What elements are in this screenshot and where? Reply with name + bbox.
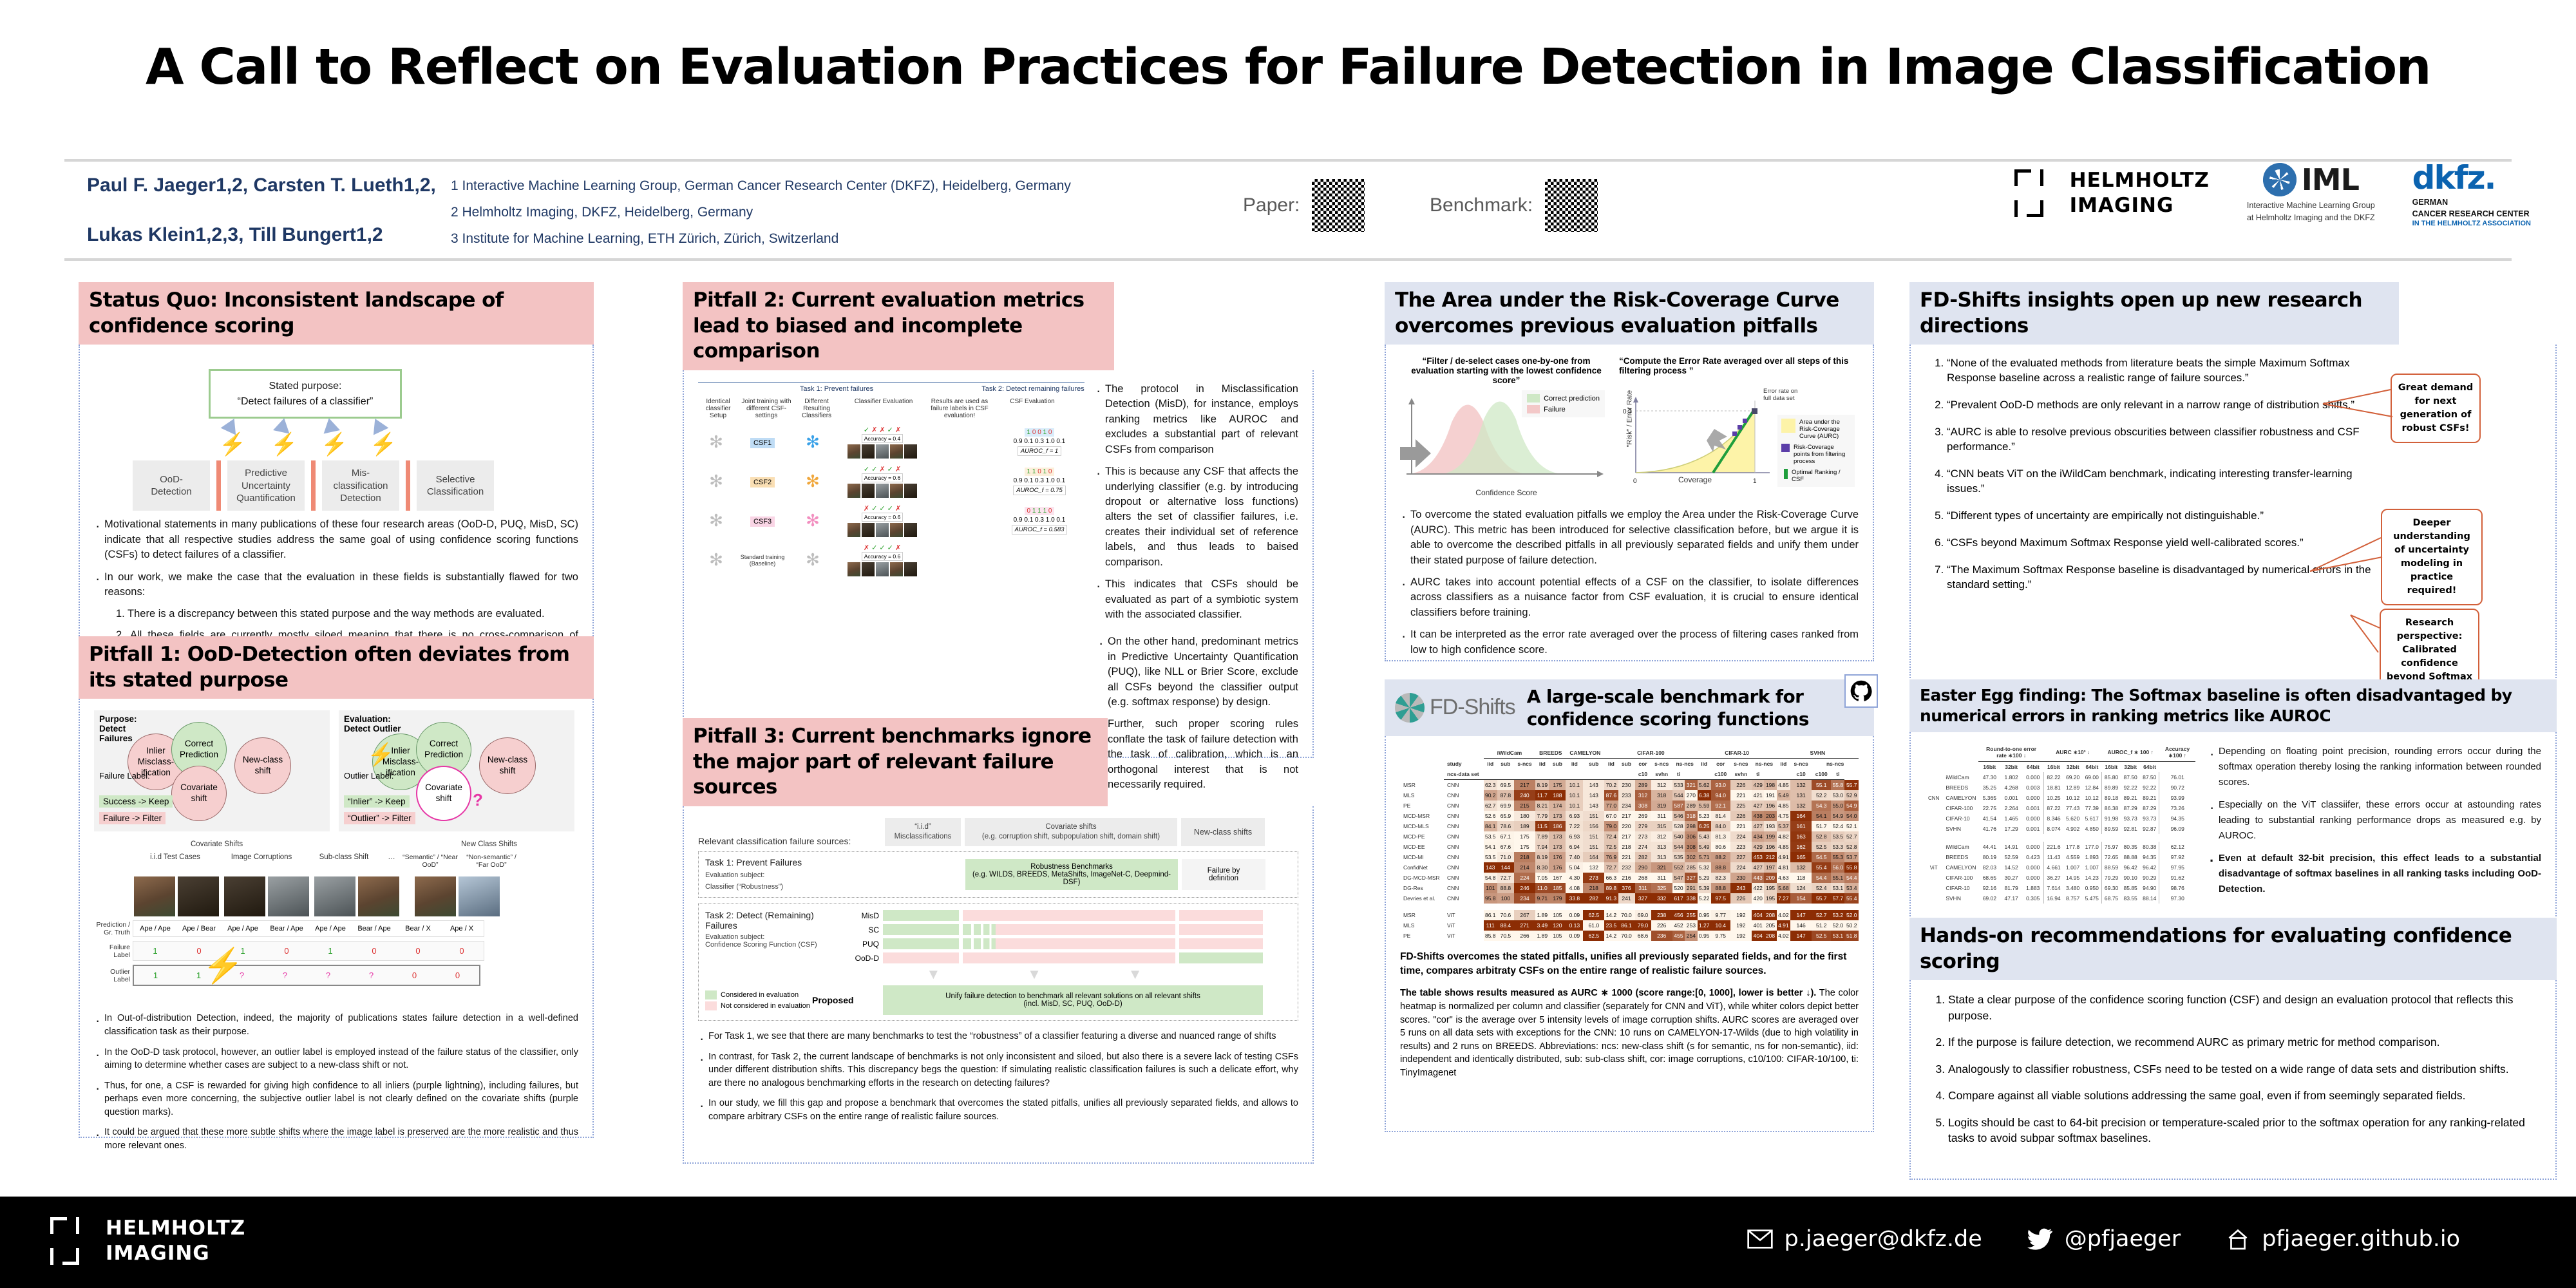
bit-header: 16bit [1978,762,2000,773]
heat-cell: 54.4 [1812,873,1831,883]
cell-outlier-label: 0 [436,966,479,985]
heat-cell: 71.0 [1497,852,1514,862]
insights-list: “None of the evaluated methods from lite… [1947,356,2385,592]
precision-cell: 47.30 [1978,772,2000,782]
precision-cell: 4.902 [2063,824,2083,834]
precision-cell: 87.50 [2121,772,2140,782]
affiliation-2: 2 Helmholtz Imaging, DKFZ, Heidelberg, G… [451,200,1159,226]
aurc-figures: Correct prediction Failure Con [1400,390,1859,497]
failure-label: 0 [1027,507,1031,515]
classifier-label [1925,883,1942,893]
heat-cell: 94.0 [1711,790,1730,800]
heat-cell: 175 [1549,780,1566,791]
correct-mark: ✓ [864,426,869,434]
heat-cell: 53.5 [1484,831,1497,842]
heat-cell: 6.94 [1566,842,1583,852]
heat-cell: 0.09 [1566,931,1583,941]
dkfz-wordmark: dkfz. [2412,159,2531,196]
heat-cell: 453 [1752,852,1764,862]
heat-cell: 164 [1790,811,1812,821]
classifier-label [1925,772,1942,782]
grid-thumbnails [134,876,500,916]
pitfall-2-bullets-right: The protocol in Misclassification Detect… [1095,382,1298,629]
footer-website[interactable]: pfjaeger.github.io [2226,1226,2460,1252]
failure-label: 1 [1043,468,1047,475]
heat-cell: 217 [1514,780,1535,791]
heat-cell: 67.1 [1497,831,1514,842]
method-name: MCD-PE [1400,831,1444,842]
annotation-error-rate-full: Error rate on full data set [1763,388,1797,402]
heat-cell: 143 [1484,862,1497,873]
callout-uncertainty-modeling: Deeper understanding of uncertainty mode… [2381,509,2483,605]
lightning-icon: ⚡ [202,949,244,983]
heat-cell: 279 [1635,821,1651,831]
heat-cell: 147 [1790,910,1812,920]
group-camelyon: CAMELYON [1566,748,1604,759]
helmholtz-wordmark: HELMHOLTZ IMAGING [2070,168,2210,218]
correct-mark: ✓ [887,505,893,513]
heat-cell: 5.23 [1698,811,1711,821]
precision-cell: 85.85 [2121,883,2140,893]
chevron-down-icon: ▼ [1027,966,1041,983]
panel-insights: FD-Shifts insights open up new research … [1909,282,2557,712]
method-name: DG-MCD-MSR [1400,873,1444,883]
venn-purpose-legend-filter: Failure -> Filter [99,812,166,824]
group-cifar100: CIFAR-100 [1604,748,1697,759]
arrow-group: ⚡ ⚡ ⚡ ⚡ [207,418,413,457]
cell-failure-label: 0 [352,942,396,960]
correct-marks: ✗ ✓ ✓ ✓ ✗ [864,504,901,513]
study-name: CNN [1444,883,1484,893]
legend-swatch-optimal [1784,469,1788,479]
table-row: MCD-PECNN53.567.11757.891736.9315172.421… [1400,831,1859,842]
legend-swatch-considered [705,990,717,999]
heat-cell: 230 [1730,873,1752,883]
failure-labels-row: 1 1 0 1 0 [1025,468,1055,476]
study-name: CNN [1444,800,1484,811]
col-header-image-corruptions: Image Corruptions [218,853,305,869]
sample-image [848,523,860,537]
logo-row: HELMHOLTZ IMAGING IML Interactive Machin… [2014,159,2531,227]
heat-cell: 111 [1484,920,1497,931]
bit-header: 32bit [2121,762,2140,773]
heat-cell: 55.4 [1812,862,1831,873]
auroc-badge: AUROC_f = 0.583 [1012,525,1068,535]
csf-chip: CSF3 [750,516,775,527]
heat-cell: 151 [1583,811,1604,821]
heat-cell: 266 [1514,931,1535,941]
panel-aurc: The Area under the Risk-Coverage Curve o… [1385,282,1874,661]
precision-cell: 1.007 [2083,862,2102,873]
aurc-heading: The Area under the Risk-Coverage Curve o… [1385,282,1874,345]
csf-scores-row: 0.9 0.1 0.3 1.0 0.1 [1014,516,1066,524]
venn-purpose-legend-keep: Success -> Keep [99,795,173,808]
heat-cell: 226 [1730,893,1752,904]
pitfall-3-heading: Pitfall 3: Current benchmarks ignore the… [683,718,1108,806]
distribution-legend: Correct prediction Failure [1522,390,1605,417]
col-header: iid [1566,759,1583,770]
heat-cell: 5.04 [1566,862,1583,873]
precision-cell: 4.559 [2063,852,2083,862]
legend-swatch-not-considered [705,1001,717,1010]
paper-qr-label: Paper: [1243,194,1300,216]
dataset-label: CIFAR-100 [1942,803,1978,813]
question-mark-icon: ? [473,790,483,810]
heat-cell: 221 [1730,790,1752,800]
cell-not-considered [883,952,959,963]
heat-cell: 88.2 [1711,852,1730,862]
heat-cell: 55.1 [1812,780,1831,791]
col-header-ellipsis: … [383,853,401,869]
heat-cell: 4.02 [1777,910,1790,920]
csf-score: 1.0 [1046,516,1055,524]
heat-cell: 189 [1514,821,1535,831]
fd-shifts-heading-bar: FD-Shifts A large-scale benchmark for co… [1385,679,1874,736]
heat-cell: 7.89 [1535,831,1549,842]
failure-label: 0 [1048,429,1052,436]
heat-cell: 132 [1790,862,1812,873]
csf-score: 0.9 [1014,516,1023,524]
precision-cell: 80.38 [2140,842,2159,852]
study-name: CNN [1444,842,1484,852]
heat-cell: 4.85 [1777,780,1790,791]
matrix-col-newclass: New-class shifts [1181,818,1265,846]
heat-cell: 214 [1514,862,1535,873]
study-name: CNN [1444,790,1484,800]
heat-cell: 0.13 [1566,920,1583,931]
iml-top: IML [2263,162,2359,197]
heat-cell: 87.8 [1497,790,1514,800]
heat-cell: 124 [1790,883,1812,893]
heat-cell: 420 [1752,893,1764,904]
precision-cell: 93.99 [2159,793,2195,803]
heat-cell: 198 [1764,780,1776,791]
header-ncs-dataset: ncs-data set [1444,769,1484,780]
heat-cell: 11.5 [1535,821,1549,831]
col-header-subclass-shift: Sub-class Shift [305,853,383,869]
table-group-header-row: iWildCam BREEDS CAMELYON CIFAR-100 CIFAR… [1400,748,1859,759]
precision-cell: 88.14 [2140,893,2159,904]
precision-cell: 87.29 [2140,803,2159,813]
dataset-label: CIFAR-10 [1942,813,1978,824]
cell-outlier-label: 0 [393,966,436,985]
heat-cell: 318 [1685,811,1697,821]
precision-cell: 90.29 [2140,873,2159,883]
github-icon[interactable] [1844,674,1878,708]
heat-cell: 224 [1730,862,1752,873]
heat-cell: 9.77 [1711,910,1730,920]
classifier-label [1925,873,1942,883]
heat-cell: 143 [1583,790,1604,800]
precision-cell: 1.883 [2022,883,2044,893]
col-header: s-ncs [1730,759,1752,770]
heat-cell: 61.0 [1583,920,1604,931]
precision-cell: 5.475 [2083,893,2102,904]
easter-bullet-3: Even at default 32-bit precision, this e… [2208,851,2541,897]
heat-cell: 535 [1672,852,1685,862]
heat-cell: 226 [1730,780,1752,791]
precision-cell: 47.17 [2000,893,2022,904]
precision-cell: 98.76 [2159,883,2195,893]
panel-recommendations: Hands-on recommendations for evaluating … [1909,918,2557,1180]
lightning-icon: ⚡ [370,433,397,455]
heat-cell: 224 [1730,831,1752,842]
heat-cell: 4.75 [1777,811,1790,821]
paper-qr-block[interactable]: Paper: [1243,176,1368,235]
precision-cell: 3.480 [2063,883,2083,893]
gear-icon [2263,163,2297,196]
dkfz-sub-2: CANCER RESEARCH CENTER [2412,208,2531,220]
heat-cell: 70.5 [1497,931,1514,941]
colgroup-round-to-one: Round-to-one error rate ∗100 ↓ [1978,744,2043,762]
diagram-row: ✻ CSF2 ✻ ✓ ✓ ✗ ✓ ✗ Accuracy = 0.6 [698,465,1084,498]
heat-cell: 274 [1635,842,1651,852]
heat-cell: 311 [1651,873,1672,883]
panel-status-quo: Status Quo: Inconsistent landscape of co… [79,282,594,649]
heat-cell: 9.75 [1711,931,1730,941]
col-header: iid [1484,759,1497,770]
col-header: cor [1711,759,1730,770]
col-header: s-ncs [1651,759,1672,770]
heat-cell: 5.49 [1777,790,1790,800]
heat-cell: 327 [1685,873,1697,883]
table-row: MSRCNN62.369.52178.1917510.114370.223028… [1400,780,1859,791]
heat-cell: 5.71 [1698,852,1711,862]
correct-mark: ✗ [879,426,885,434]
heat-cell: 72.5 [1604,842,1618,852]
heat-cell: 212 [1764,852,1776,862]
method-name: MSR [1400,780,1444,791]
precision-cell: 97.30 [2159,893,2195,904]
poster-footer: HELMHOLTZ IMAGING p.jaeger@dkfz.de @pfja… [0,1197,2576,1288]
heat-cell: 173 [1549,842,1566,852]
gear-icon: ✻ [698,471,734,491]
matrix-header: Relevant classification failure sources:… [698,818,1298,846]
legend-rc-points: Risk-Coverage points from filtering proc… [1794,444,1851,465]
recommendation-item-5: Logits should be cast to 64-bit precisio… [1948,1115,2541,1146]
field-ood-detection: OoD- Detection [133,460,210,511]
precision-cell: 94.35 [2140,852,2159,862]
gear-icon: ✻ [791,471,835,491]
group-label-new-class-shifts: New Class Shifts [461,840,517,848]
benchmark-qr-block[interactable]: Benchmark: [1430,176,1601,235]
heat-cell: 53.5 [1484,852,1497,862]
heat-cell: 55.8 [1844,862,1859,873]
affiliations: 1 Interactive Machine Learning Group, Ge… [451,173,1159,252]
correct-mark: ✓ [871,466,877,473]
heat-cell: 62.5 [1583,931,1604,941]
affiliation-3: 3 Institute for Machine Learning, ETH Zü… [451,226,1159,252]
heat-cell: 175 [1514,842,1535,852]
footer-helmholtz-line-1: HELMHOLTZ [106,1217,245,1240]
failure-label: 1 [1027,429,1031,436]
pitfall-2-bullet-2: This is because any CSF that affects the… [1095,464,1298,570]
footer-helmholtz-wordmark: HELMHOLTZ IMAGING [106,1216,245,1266]
cell-partially-considered [963,924,1175,935]
dataset-label: iWildCam [1942,772,1978,782]
heat-cell: 76.9 [1604,852,1618,862]
precision-cell: 0.000 [2022,873,2044,883]
footer-email[interactable]: p.jaeger@dkfz.de [1747,1226,1982,1252]
accuracy-badge: Accuracy = 0.4 [862,434,903,443]
heat-cell: 179 [1549,893,1566,904]
heat-cell: 52.7 [1812,910,1831,920]
precision-cell: 0.000 [2022,862,2044,873]
sample-image [904,444,917,459]
classifier-label: ViT [1925,862,1942,873]
sample-image [876,444,889,459]
pitfall-2-diagram: Task 1: Prevent failures Task 2: Detect … [698,382,1084,629]
precision-cell: 62.12 [2159,842,2195,852]
heat-cell: 421 [1752,790,1764,800]
task-1-label: Task 1: Prevent failures [698,385,975,393]
sample-image [848,484,860,498]
heat-cell: 221 [1730,821,1752,831]
heat-cell: 55.7 [1812,893,1831,904]
heat-cell: 93.0 [1711,780,1730,791]
heat-cell: 302 [1685,852,1697,862]
iml-wordmark: IML [2302,162,2359,197]
heat-cell: 271 [1514,920,1535,931]
fd-shifts-heatmap-table: iWildCam BREEDS CAMELYON CIFAR-100 CIFAR… [1400,748,1859,941]
correct-mark: ✗ [864,544,869,552]
precision-cell: 4.850 [2083,824,2102,834]
precision-cell: 35.25 [1978,782,2000,793]
venn-circle-covariate-shift: Covariate shift [171,766,227,821]
correct-marks: ✓ ✗ ✗ ✓ ✗ [864,426,901,434]
precision-cell: 14.52 [2000,862,2022,873]
precision-cell: 10.12 [2083,793,2102,803]
precision-cell: 97.92 [2159,852,2195,862]
row-label-failure: Failure Label [94,943,133,959]
heat-cell: 312 [1651,780,1672,791]
csf-score: 0.1 [1024,516,1033,524]
heat-cell: 105 [1549,931,1566,941]
affiliation-1: 1 Interactive Machine Learning Group, Ge… [451,173,1159,200]
precision-cell: 68.65 [1978,873,2000,883]
pitfall-3-bullet-1: For Task 1, we see that there are many b… [698,1030,1298,1043]
heat-cell: 180 [1514,811,1535,821]
pitfall-1-bullet-3: Thus, for one, a CSF is rewarded for giv… [94,1079,578,1119]
table-subheader-row: study iid sub s-ncs iid sub iid sub iid … [1400,759,1859,770]
heat-cell: 151 [1583,842,1604,852]
heat-cell: 308 [1685,842,1697,852]
benchmark-qr-code[interactable] [1542,176,1601,235]
aurc-bullet-2: AURC takes into account potential effect… [1400,575,1859,620]
cell-not-considered [963,952,1175,963]
table-row: MCD-MICNN53.571.02188.191767.4016476.922… [1400,852,1859,862]
heat-cell: 188 [1549,790,1566,800]
heat-cell: 90.2 [1484,790,1497,800]
heat-cell: 617 [1672,893,1685,904]
table-caption-bold: The table shows results measured as AURC… [1400,988,1816,998]
precision-cell: 72.65 [2101,852,2121,862]
col-header: iid [1777,759,1790,770]
precision-cell: 8.074 [2044,824,2063,834]
csf-score: 1.0 [1046,477,1055,484]
cell-failure-label: 0 [440,942,484,960]
precision-cell: 93.73 [2121,813,2140,824]
task-1-failure-by-definition: Failure by definition [1182,859,1265,890]
heat-cell: 321 [1651,862,1672,873]
recommendations-heading: Hands-on recommendations for evaluating … [1909,918,2557,980]
precision-cell: 1.802 [2000,772,2022,782]
heat-cell: 267 [1514,910,1535,920]
sample-image [904,523,917,537]
heat-cell: 88.8 [1711,862,1730,873]
sample-image [862,444,875,459]
heat-cell: 67.6 [1497,842,1514,852]
precision-cell: 83.55 [2121,893,2140,904]
precision-cell: 221.6 [2044,842,2063,852]
heat-cell: 70.0 [1618,931,1635,941]
method-name: DG-Res [1400,883,1444,893]
footer-twitter[interactable]: @pfjaeger [2027,1226,2181,1252]
heat-cell: 52.5 [1812,842,1831,852]
precision-cell: 88.88 [2121,852,2140,862]
heat-cell: 10.1 [1566,790,1583,800]
heat-cell: 427 [1752,862,1764,873]
heat-cell: 196 [1764,800,1776,811]
heat-cell: 72.7 [1497,873,1514,883]
aurc-caption-right: “Compute the Error Rate averaged over al… [1619,356,1851,385]
precision-cell: 96.09 [2159,824,2195,834]
gear-icon: ✻ [698,550,734,570]
heat-cell: 224 [1514,873,1535,883]
heat-cell: 53.1 [1831,883,1844,893]
mail-icon [1747,1229,1773,1249]
heat-cell: 5.29 [1698,873,1711,883]
heat-cell: 217 [1618,811,1635,821]
cell-not-considered [1179,938,1263,949]
heat-cell: 285 [1685,862,1697,873]
heat-cell: 427 [1752,821,1764,831]
table-row: CIFAR-1041.541.4650.0008.3465.6205.61791… [1925,813,2195,824]
recommendations-list: State a clear purpose of the confidence … [1948,992,2541,1146]
table-row: iWildCam44.4114.910.000221.6177.8177.075… [1925,842,2195,852]
easter-table-wrap: Round-to-one error rate ∗100 ↓ AURC ∗10³… [1925,744,2195,906]
sample-image [890,484,903,498]
distribution-plot: Correct prediction Failure Con [1400,390,1613,497]
correct-mark: ✓ [864,466,869,473]
col-header-iid: i.i.d Test Cases [133,853,218,869]
heat-cell: 176 [1549,862,1566,873]
precision-cell: 1.007 [2063,862,2083,873]
cell-considered [883,910,959,921]
bit-header: 16bit [2044,762,2063,773]
study-name: CNN [1444,873,1484,883]
gear-icon: ✻ [791,550,835,570]
legend-aurc: Area under the Risk-Coverage Curve (AURC… [1799,419,1851,440]
risk-coverage-plot: Error rate on full data set 0.3 [1616,390,1855,497]
heat-cell: 191 [1764,790,1776,800]
dataset-label: SVHN [1942,893,1978,904]
heat-cell: 52.8 [1844,842,1859,852]
task-brackets: Task 1: Prevent failures Task 2: Detect … [698,382,1084,393]
paper-qr-code[interactable] [1309,176,1368,235]
venn-purpose-label-caption: Failure Label: [99,771,150,781]
heat-cell: 52.5 [1812,931,1831,941]
heat-cell: 62.3 [1484,780,1497,791]
heat-cell: 68.6 [1635,931,1651,941]
arrow-up-icon [321,417,340,434]
easter-heading: Easter Egg finding: The Softmax baseline… [1909,679,2557,732]
csf-score: 0.1 [1056,477,1065,484]
iml-subtitle: Interactive Machine Learning Group at He… [2247,200,2375,224]
heat-cell: 95.8 [1484,893,1497,904]
col-header: iid [1604,759,1618,770]
sample-image-8 [459,876,500,916]
